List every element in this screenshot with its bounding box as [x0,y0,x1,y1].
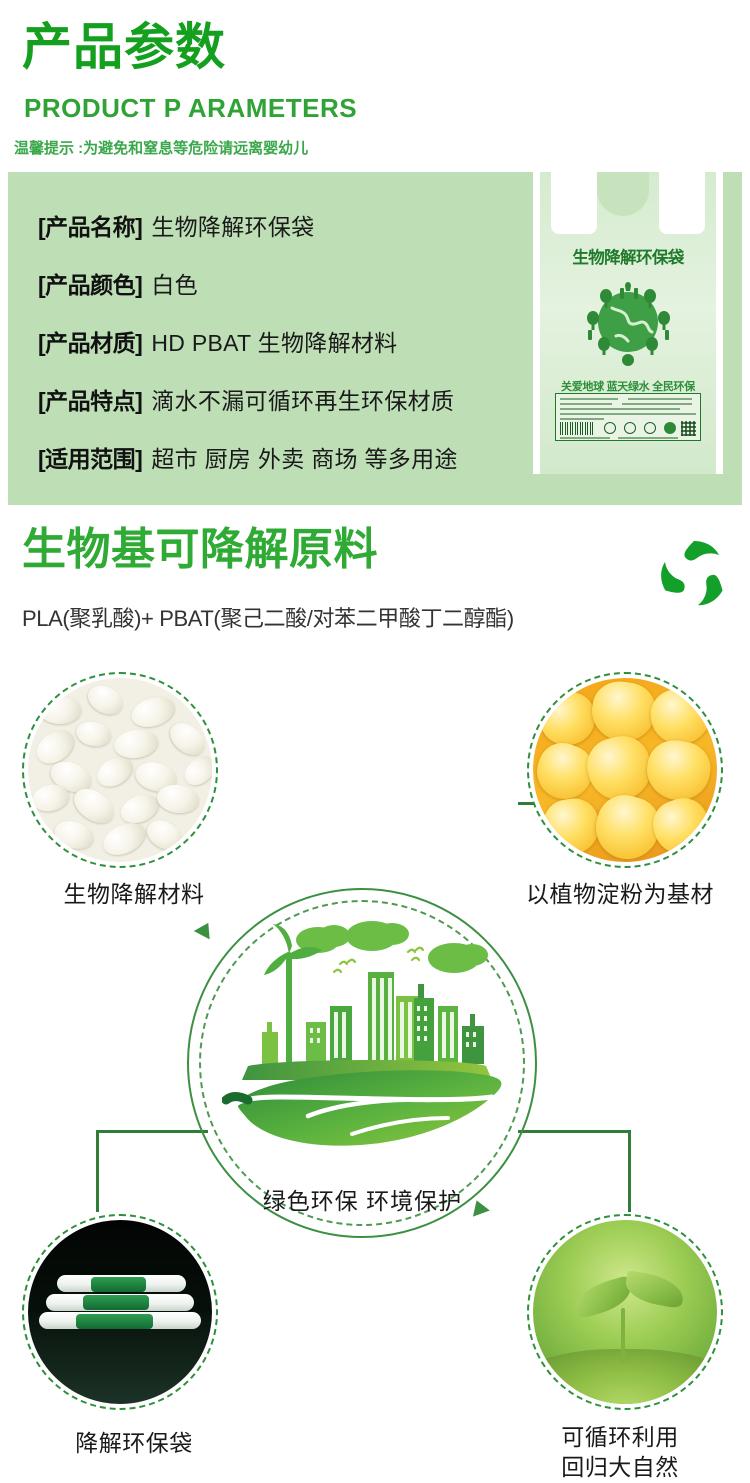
spec-key: [产品材质] [38,314,142,372]
safety-tip: 温馨提示 :为避免和窒息等危险请远离婴幼儿 [14,141,308,156]
cycle-arrow-top [194,919,216,940]
cycle-photo-degradable-bags [22,1214,218,1410]
recycling-mark-icon [664,422,676,434]
cycle-caption-return-to-nature: 可循环利用 回归大自然 [490,1422,750,1483]
bag-print-slogan: 关爱地球 蓝天绿水 全民环保 [533,378,723,394]
spec-list: [产品名称] 生物降解环保袋 [产品颜色] 白色 [产品材质] HD PBAT … [38,198,518,488]
material-formula: PLA(聚乳酸)+ PBAT(聚己二酸/对苯二甲酸丁二醇酯) [22,608,514,630]
bag-side-right [716,172,723,474]
material-heading: 生物基可降解原料 [22,528,378,572]
bag-print-title: 生物降解环保袋 [533,244,723,268]
sprout-leaf-right [623,1270,686,1309]
header-section: 产品参数 PRODUCT P ARAMETERS 温馨提示 :为避免和窒息等危险… [0,0,750,172]
recycling-mark-icon [604,422,616,434]
material-cycle-diagram: 绿色环保 环境保护 [0,660,750,1481]
spec-key: [产品颜色] [38,256,142,314]
globe-earth-icon [576,268,680,372]
corn-background [533,678,717,862]
spec-row: [产品特点] 滴水不漏可循环再生环保材质 [38,372,518,430]
spec-value: 超市 厨房 外卖 商场 等多用途 [151,430,457,488]
cycle-caption-biodegradable-material: 生物降解材料 [0,879,268,909]
cycle-photo-plant-starch [527,672,723,868]
spec-row: [适用范围] 超市 厨房 外卖 商场 等多用途 [38,430,518,488]
spec-value: 白色 [151,256,198,314]
cycle-center-caption: 绿色环保 环境保护 [185,1182,540,1216]
sprout-stem [621,1308,625,1363]
corn-kernels-photo [533,678,717,862]
spec-row: [产品材质] HD PBAT 生物降解材料 [38,314,518,372]
page-title: 产品参数 [22,22,226,72]
bag-handle-notch-right [659,172,705,234]
eco-city-leaf-icon [222,910,502,1160]
spec-row: [产品颜色] 白色 [38,256,518,314]
cycle-caption-plant-starch: 以植物淀粉为基材 [490,879,750,909]
spec-row: [产品名称] 生物降解环保袋 [38,198,518,256]
spec-key: [适用范围] [38,430,142,488]
spec-value: 滴水不漏可循环再生环保材质 [151,372,454,430]
bag-handle-notch-left [551,172,597,234]
bag-info-label [555,393,701,441]
spec-value: 生物降解环保袋 [151,198,314,256]
spec-key: [产品特点] [38,372,142,430]
recycling-mark-icon [644,422,656,434]
white-pellets-photo [28,678,212,862]
rolled-bags-photo [28,1220,212,1404]
bagroll-background [28,1220,212,1404]
spec-value: HD PBAT 生物降解材料 [151,314,397,372]
cycle-caption-degradable-bags: 降解环保袋 [0,1428,268,1458]
leaf-recycle-icon [655,535,733,613]
cycle-photo-biodegradable-material [22,672,218,868]
bag-side-left [533,172,540,474]
qr-code-icon [681,421,696,436]
barcode-icon [560,422,594,435]
product-bag-photo: 生物降解环保袋 关爱地球 蓝天绿水 全民环保 [533,172,723,474]
cycle-photo-return-to-nature [527,1214,723,1410]
pellets-background [28,678,212,862]
recycling-mark-icon [624,422,636,434]
page-subtitle-english: PRODUCT P ARAMETERS [24,95,357,121]
seedling-sprout-photo [533,1220,717,1404]
spec-key: [产品名称] [38,198,142,256]
sprout-background [533,1220,717,1404]
